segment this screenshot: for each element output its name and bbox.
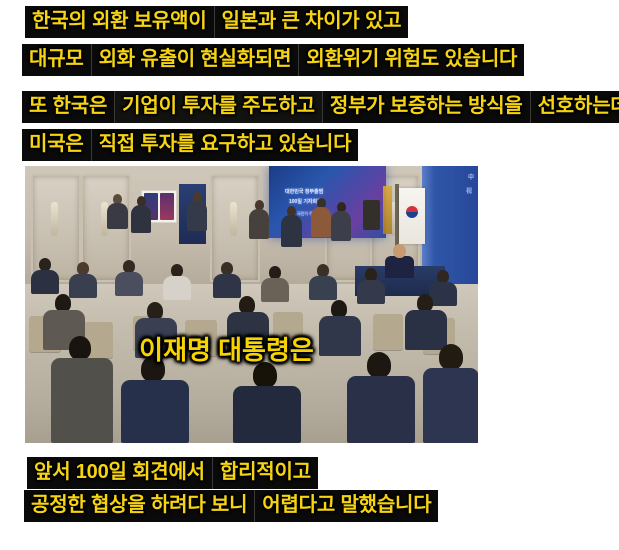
- audience-body: [163, 276, 191, 300]
- audience-body: [31, 270, 59, 294]
- chair: [185, 320, 217, 356]
- subtitle-capture-page: 한국의 외환 보유액이 일본과 큰 차이가 있고 대규모 외화 유출이 현실화되…: [0, 0, 619, 550]
- video-still[interactable]: 대한민국 정부출범 100일 기자회견 국민이 주인인 나라 中 视: [25, 166, 478, 443]
- subtitle-segment: 공정한 협상을 하려다 보니: [24, 490, 254, 522]
- subtitle-segment: 직접 투자를 요구하고 있습니다: [91, 129, 359, 161]
- president-figure: [385, 256, 414, 278]
- chair: [273, 312, 303, 346]
- standing-person-body: [331, 211, 351, 241]
- standing-person-body: [187, 201, 207, 231]
- audience-body: [319, 316, 361, 356]
- audience-body: [357, 280, 385, 304]
- subtitle-segment: 앞서 100일 회견에서: [27, 457, 212, 489]
- audience-head: [69, 336, 91, 360]
- audience-body: [309, 276, 337, 300]
- standing-person-body: [311, 207, 331, 237]
- subtitle-line-2: 대규모 외화 유출이 현실화되면 외환위기 위험도 있습니다: [22, 44, 524, 76]
- audience-body: [233, 386, 301, 443]
- presidential-standard-flag: [383, 186, 392, 234]
- audience-body: [347, 376, 415, 443]
- subtitle-segment: 외화 유출이 현실화되면: [91, 44, 299, 76]
- audience-body: [115, 272, 143, 296]
- subtitle-segment: 또 한국은: [22, 91, 114, 123]
- subtitle-line-3: 또 한국은 기업이 투자를 주도하고 정부가 보증하는 방식을 선호하는데: [22, 91, 619, 123]
- subtitle-line-6: 공정한 협상을 하려다 보니 어렵다고 말했습니다: [24, 490, 438, 522]
- screen-text-line-1: 대한민국 정부출범: [285, 188, 323, 195]
- audience-body: [51, 358, 113, 443]
- subtitle-segment: 일본과 큰 차이가 있고: [214, 6, 409, 38]
- subtitle-segment: 선호하는데: [530, 91, 619, 123]
- standing-person-body: [281, 215, 302, 247]
- stage-speaker: [363, 200, 380, 230]
- standing-person-body: [249, 209, 269, 239]
- audience-body: [261, 278, 289, 302]
- audience-head: [439, 344, 463, 370]
- audience-body: [405, 310, 447, 350]
- broadcast-watermark-icon: 中: [468, 172, 474, 181]
- president-head: [393, 244, 406, 258]
- subtitle-line-4: 미국은 직접 투자를 요구하고 있습니다: [22, 129, 358, 161]
- subtitle-line-1: 한국의 외환 보유액이 일본과 큰 차이가 있고: [25, 6, 408, 38]
- audience-body: [423, 368, 478, 443]
- subtitle-segment: 대규모: [22, 44, 91, 76]
- chair: [373, 314, 403, 350]
- subtitle-segment: 미국은: [22, 129, 91, 161]
- korean-flag-icon: [399, 188, 425, 244]
- audience-head: [141, 356, 165, 382]
- subtitle-segment: 외환위기 위험도 있습니다: [298, 44, 524, 76]
- audience-body: [429, 282, 457, 306]
- audience-body: [213, 274, 241, 298]
- subtitle-segment: 어렵다고 말했습니다: [254, 490, 438, 522]
- subtitle-segment: 정부가 보증하는 방식을: [322, 91, 530, 123]
- audience-body: [69, 274, 97, 298]
- standing-person-body: [131, 205, 151, 233]
- subtitle-segment: 한국의 외환 보유액이: [25, 6, 214, 38]
- audience-body: [121, 380, 189, 443]
- subtitle-line-5: 앞서 100일 회견에서 합리적이고: [27, 457, 318, 489]
- audience-body: [227, 312, 269, 352]
- subtitle-segment: 합리적이고: [212, 457, 318, 489]
- audience-body: [135, 318, 177, 358]
- audience-head: [367, 352, 391, 378]
- standing-person-body: [107, 203, 128, 229]
- broadcast-watermark-icon: 视: [466, 186, 472, 195]
- audience-head: [253, 362, 277, 388]
- subtitle-segment: 기업이 투자를 주도하고: [114, 91, 322, 123]
